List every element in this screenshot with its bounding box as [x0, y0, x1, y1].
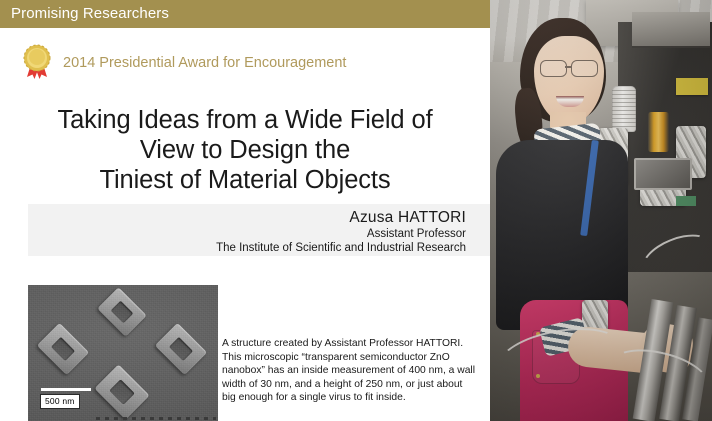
- award-row: 2014 Presidential Award for Encouragemen…: [20, 44, 346, 80]
- figure-caption: A structure created by Assistant Profess…: [222, 337, 478, 404]
- scale-bar-label: 500 nm: [40, 394, 80, 409]
- researcher-photo: [490, 0, 712, 421]
- glasses-lens-right: [571, 60, 598, 77]
- scale-bar-line: [41, 388, 91, 391]
- award-medal-icon: [20, 44, 54, 80]
- award-text: 2014 Presidential Award for Encouragemen…: [63, 55, 346, 71]
- headline-line-1: Taking Ideas from a Wide Field of: [0, 105, 490, 135]
- instrument-rack-top: [632, 12, 710, 48]
- section-banner-label: Promising Researchers: [11, 3, 169, 25]
- author-block: Azusa HATTORI Assistant Professor The In…: [28, 204, 490, 256]
- article-page: Promising Researchers 2014 Presidential …: [0, 0, 712, 421]
- chamber-viewport: [634, 158, 692, 190]
- orange-cylinder-component: [648, 112, 669, 152]
- section-banner: Promising Researchers: [0, 0, 490, 28]
- headline-line-2: View to Design the: [0, 135, 490, 165]
- author-name: Azusa HATTORI: [28, 208, 466, 227]
- equipment-yellow-label: [676, 78, 708, 95]
- headline-line-3: Tiniest of Material Objects: [0, 165, 490, 195]
- researcher-glasses: [540, 60, 602, 75]
- author-affiliation: The Institute of Scientific and Industri…: [28, 241, 466, 255]
- white-cylinder-fins: [612, 90, 636, 128]
- glasses-lens-left: [540, 60, 567, 77]
- author-title: Assistant Professor: [28, 227, 466, 241]
- page-title: Taking Ideas from a Wide Field of View t…: [0, 105, 490, 195]
- sem-edge-marks: [96, 417, 216, 420]
- sem-micrograph: 500 nm: [28, 285, 218, 421]
- equipment-green-label: [676, 196, 696, 206]
